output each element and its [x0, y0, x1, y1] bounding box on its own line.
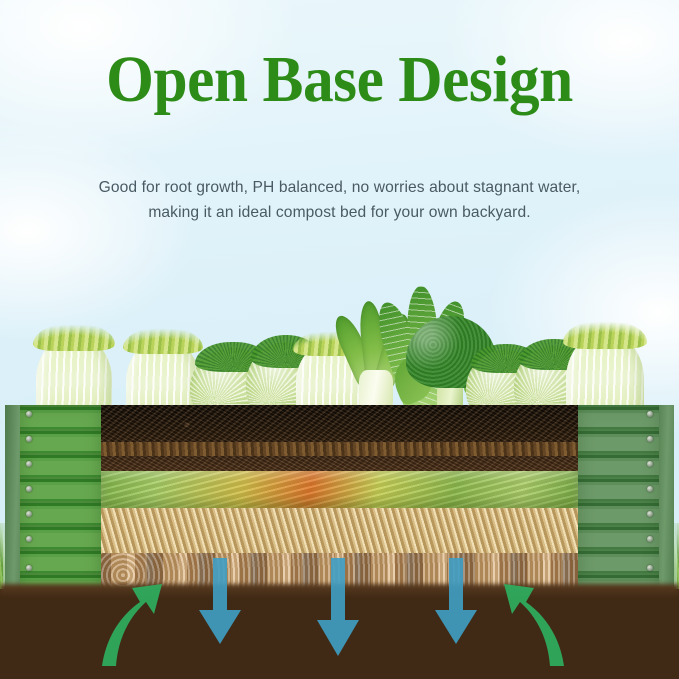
- water-drainage-arrow-2: [314, 558, 362, 666]
- root-growth-arrow-left: [96, 568, 166, 668]
- subtitle-line-1: Good for root growth, PH balanced, no wo…: [99, 179, 581, 196]
- layer-green-waste: [101, 471, 578, 508]
- screw-icon: [647, 486, 653, 492]
- screw-icon: [26, 436, 32, 442]
- garden-bed-illustration: [0, 288, 679, 679]
- screw-icon: [26, 486, 32, 492]
- water-drainage-arrow-3: [432, 558, 480, 654]
- screw-icon: [647, 411, 653, 417]
- root-growth-arrow-right: [500, 568, 570, 668]
- planter-side-wall-right: [578, 405, 679, 593]
- screw-icon: [26, 565, 32, 571]
- screw-icon: [26, 411, 32, 417]
- screw-icon: [647, 461, 653, 467]
- corrugated-panels: [578, 405, 659, 593]
- page-title: Open Base Design: [24, 44, 655, 116]
- screw-icon: [647, 511, 653, 517]
- screw-icon: [647, 565, 653, 571]
- screw-icon: [26, 536, 32, 542]
- screw-icon: [647, 436, 653, 442]
- vegetable-row: [0, 288, 679, 420]
- subtitle-line-2: making it an ideal compost bed for your …: [148, 204, 530, 221]
- layer-topsoil: [101, 405, 578, 471]
- corrugated-panels: [20, 405, 101, 593]
- screw-icon: [26, 511, 32, 517]
- water-drainage-arrow-1: [196, 558, 244, 654]
- product-feature-banner: Open Base Design Good for root growth, P…: [0, 0, 679, 679]
- planter-side-wall-left: [0, 405, 101, 593]
- screw-icon: [26, 461, 32, 467]
- page-subtitle: Good for root growth, PH balanced, no wo…: [0, 175, 679, 225]
- layer-straw: [101, 508, 578, 553]
- screw-icon: [647, 536, 653, 542]
